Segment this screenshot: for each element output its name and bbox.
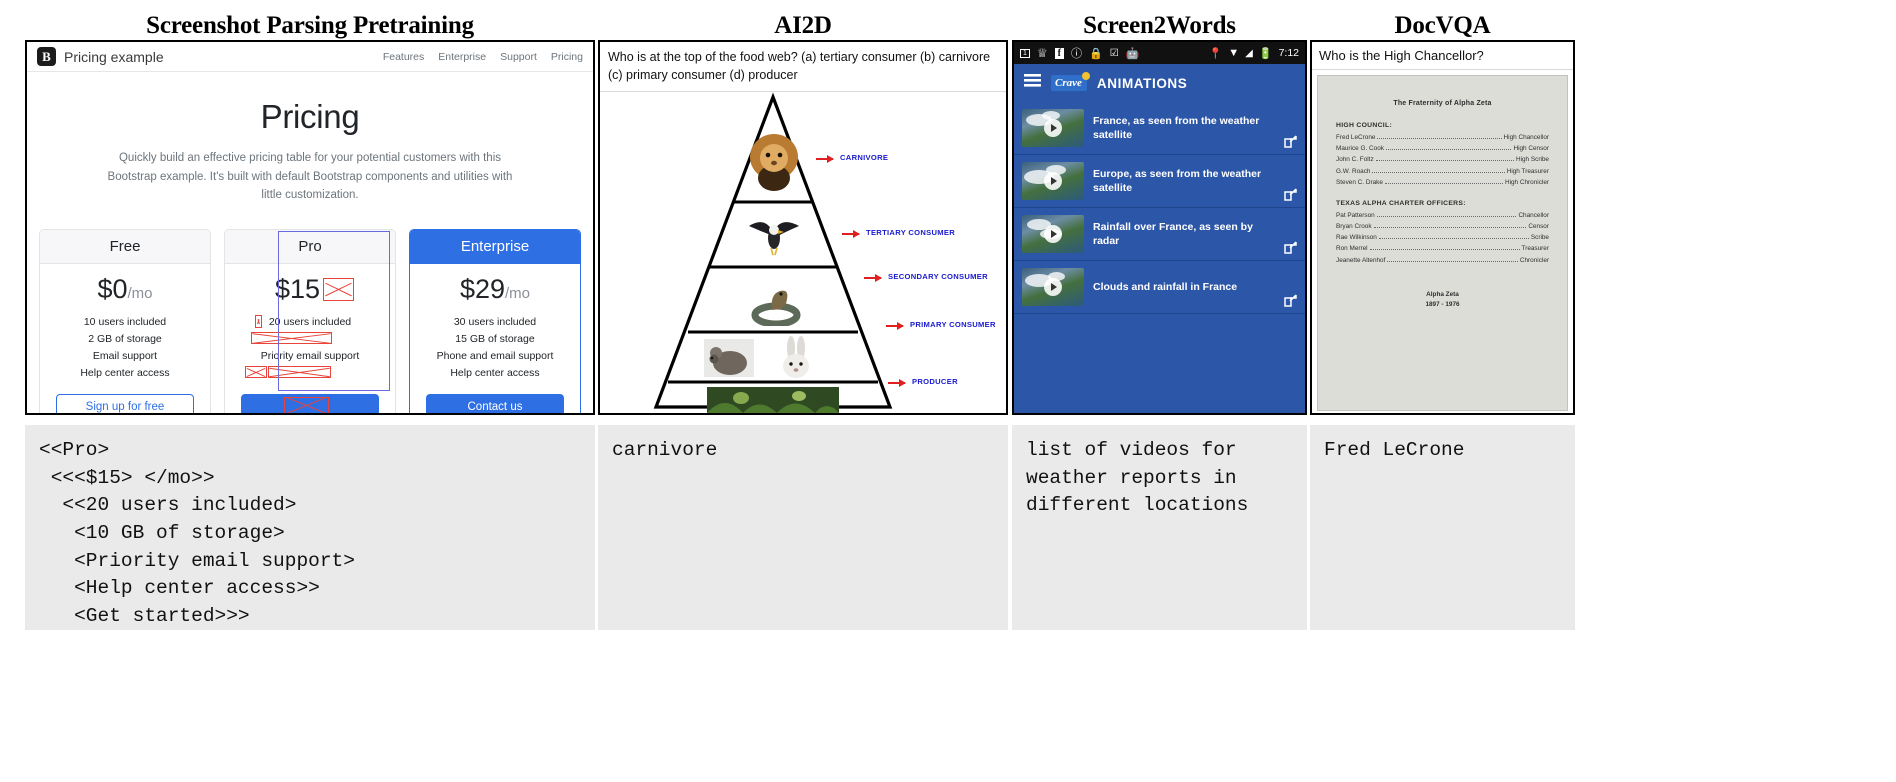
label-primary-consumer: PRIMARY CONSUMER (910, 320, 996, 329)
column-title-screenshot-parsing: Screenshot Parsing Pretraining (25, 12, 595, 40)
leader-dots (1379, 238, 1529, 239)
roster-entry: Maurice G. Cook High Censor (1336, 145, 1549, 152)
lock-icon: 🔒 (1089, 47, 1103, 60)
share-icon[interactable] (1284, 294, 1298, 307)
entry-role: Treasurer (1522, 245, 1549, 252)
entry-role: Censor (1528, 223, 1549, 230)
label-secondary-consumer: SECONDARY CONSUMER (888, 272, 988, 281)
docvqa-question: Who is the High Chancellor? (1312, 42, 1573, 70)
figure-root: Screenshot Parsing Pretraining AI2D Scre… (0, 0, 1896, 782)
app-bar-title: ANIMATIONS (1097, 76, 1188, 91)
entry-name: Fred LeCrone (1336, 134, 1375, 141)
docvqa-panel: Who is the High Chancellor? The Fraterni… (1310, 40, 1575, 415)
column-title-screen2words: Screen2Words (1012, 12, 1307, 40)
arrow-producer (888, 382, 905, 384)
pricing-navbar: B Pricing example Features Enterprise Su… (27, 42, 593, 72)
nav-link-pricing[interactable]: Pricing (551, 51, 583, 63)
answer-box-ai2d: carnivore (598, 425, 1008, 630)
section-heading-texas-alpha: TEXAS ALPHA CHARTER OFFICERS: (1336, 200, 1549, 207)
share-icon[interactable] (1284, 241, 1298, 254)
label-tertiary-consumer: TERTIARY CONSUMER (866, 228, 955, 237)
pricing-card-pro: Pro $15/mo 20 users included 10 GB of st… (224, 229, 396, 415)
play-icon[interactable] (1044, 172, 1062, 190)
label-producer: PRODUCER (912, 377, 958, 386)
roster-entry: Jeanette Altenhof Chronicler (1336, 257, 1549, 264)
nav-link-features[interactable]: Features (383, 51, 424, 63)
card-body-enterprise: $29/mo 30 users included 15 GB of storag… (410, 264, 580, 415)
card-price-free: $0/mo (97, 276, 152, 303)
wifi-icon: ▼ (1228, 47, 1239, 59)
status-right-icons: 📍 ▼ ◢ 🔋 7:12 (1209, 47, 1299, 60)
facebook-icon: f (1055, 48, 1064, 59)
column-title-docvqa: DocVQA (1310, 12, 1575, 40)
list-item-label: France, as seen from the weather satelli… (1093, 114, 1297, 142)
mask-storage-line-pro (251, 332, 332, 344)
navbar-brand-label: Pricing example (64, 49, 164, 65)
entry-name: Ron Merrel (1336, 245, 1368, 252)
hamburger-menu-icon[interactable] (1024, 74, 1041, 92)
pricing-heading: Pricing (67, 98, 553, 136)
leader-dots (1376, 160, 1514, 161)
share-icon[interactable] (1284, 135, 1298, 148)
entry-role: High Treasurer (1507, 168, 1549, 175)
card-features-pro: 20 users included 10 GB of storage Prior… (233, 314, 387, 382)
section-heading-high-council: HIGH COUNCIL: (1336, 122, 1549, 129)
price-amount-enterprise: $29 (460, 274, 505, 304)
leader-dots (1385, 183, 1503, 184)
answer-box-screenshot-parsing: <<Pro> <<<$15> </mo>> <<20 users include… (25, 425, 595, 630)
feature-item: Priority email support (233, 348, 387, 365)
screen2words-panel: 1 ♕ f ⓘ 🔒 ☑ 🤖 📍 ▼ ◢ 🔋 7:12 (1012, 40, 1307, 415)
price-amount-free: $0 (97, 274, 127, 304)
get-started-button-pro[interactable]: Get started (241, 394, 379, 415)
card-body-pro: $15/mo 20 users included 10 GB of storag… (225, 264, 395, 415)
leader-dots (1370, 249, 1520, 250)
eagle-image (745, 210, 803, 263)
rabbit-image (775, 335, 817, 384)
feature-item: Help center access (418, 365, 572, 382)
roster-entry: Rae Wilkinson Scribe (1336, 234, 1549, 241)
entry-role: Chancellor (1518, 212, 1549, 219)
scanned-document: The Fraternity of Alpha Zeta HIGH COUNCI… (1317, 75, 1568, 411)
pricing-card-enterprise: Enterprise $29/mo 30 users included 15 G… (409, 229, 581, 415)
card-title-free: Free (40, 230, 210, 264)
sim-card-icon: 1 (1020, 49, 1030, 58)
price-amount-pro: $15 (275, 274, 320, 304)
video-thumbnail (1022, 109, 1084, 147)
card-features-free: 10 users included 2 GB of storage Email … (48, 314, 202, 382)
card-features-enterprise: 30 users included 15 GB of storage Phone… (418, 314, 572, 382)
play-icon[interactable] (1044, 119, 1062, 137)
arrow-carnivore (816, 158, 833, 160)
ai2d-panel: Who is at the top of the food web? (a) t… (598, 40, 1008, 415)
check-box-icon: ☑ (1110, 48, 1119, 59)
entry-name: Jeanette Altenhof (1336, 257, 1385, 264)
video-thumbnail (1022, 268, 1084, 306)
list-item[interactable]: France, as seen from the weather satelli… (1014, 102, 1305, 155)
plants-image (707, 387, 839, 416)
price-period-enterprise: /mo (505, 285, 530, 302)
feature-item: Phone and email support (418, 348, 572, 365)
leader-dots (1387, 261, 1517, 262)
arrow-secondary-consumer (864, 277, 881, 279)
footer-org: Alpha Zeta (1336, 290, 1549, 300)
play-icon[interactable] (1044, 278, 1062, 296)
android-status-bar: 1 ♕ f ⓘ 🔒 ☑ 🤖 📍 ▼ ◢ 🔋 7:12 (1014, 42, 1305, 64)
card-title-enterprise: Enterprise (410, 230, 580, 264)
android-icon: 🤖 (1126, 47, 1140, 60)
card-price-enterprise: $29/mo (460, 276, 530, 303)
info-icon: ⓘ (1071, 45, 1082, 61)
mask-price-period-pro (323, 278, 354, 301)
video-thumbnail (1022, 162, 1084, 200)
contact-us-button[interactable]: Contact us (426, 394, 564, 415)
mask-helpcenter-b-pro (268, 366, 331, 378)
roster-entry: G.W. Roach High Treasurer (1336, 168, 1549, 175)
arrow-tertiary-consumer (842, 233, 859, 235)
mask-users-digit-pro (255, 315, 262, 328)
pricing-subtext: Quickly build an effective pricing table… (100, 149, 520, 205)
entry-role: High Chronicler (1505, 179, 1549, 186)
list-item[interactable]: Europe, as seen from the weather satelli… (1014, 155, 1305, 208)
play-icon[interactable] (1044, 225, 1062, 243)
feature-item: 10 users included (48, 314, 202, 331)
entry-role: Chronicler (1520, 257, 1549, 264)
document-footer: Alpha Zeta 1897 - 1976 (1336, 290, 1549, 311)
list-item-label: Clouds and rainfall in France (1093, 280, 1297, 294)
pricing-screenshot-panel: B Pricing example Features Enterprise Su… (25, 40, 595, 415)
logo-sun-dot-icon (1082, 72, 1090, 80)
rat-image (704, 339, 754, 382)
card-price-pro: $15/mo (275, 276, 345, 303)
pricing-hero: Pricing Quickly build an effective prici… (27, 72, 593, 219)
video-thumbnail (1022, 215, 1084, 253)
crave-weather-logo: Crave (1051, 75, 1087, 91)
feature-item: 15 GB of storage (418, 331, 572, 348)
entry-name: John C. Foltz (1336, 156, 1374, 163)
feature-item: Help center access (48, 365, 202, 382)
navbar-brand[interactable]: B Pricing example (37, 47, 164, 66)
leader-dots (1377, 216, 1517, 217)
mask-helpcenter-a-pro (245, 366, 267, 378)
entry-name: Bryan Crook (1336, 223, 1372, 230)
document-title: The Fraternity of Alpha Zeta (1336, 100, 1549, 107)
leader-dots (1374, 227, 1527, 228)
list-item[interactable]: Rainfall over France, as seen by radar (1014, 208, 1305, 261)
mask-cta-pro (284, 397, 329, 414)
column-title-ai2d: AI2D (598, 12, 1008, 40)
leader-dots (1386, 149, 1512, 150)
ai2d-diagram: CARNIVORE TERTIARY CONSUMER (600, 92, 1006, 412)
label-carnivore: CARNIVORE (840, 153, 888, 162)
price-period-free: /mo (128, 285, 153, 302)
entry-name: Steven C. Drake (1336, 179, 1383, 186)
navbar-links: Features Enterprise Support Pricing (383, 51, 583, 63)
entry-role: Scribe (1531, 234, 1549, 241)
roster-entry: John C. Foltz High Scribe (1336, 156, 1549, 163)
entry-role: High Censor (1513, 145, 1549, 152)
card-title-pro: Pro (225, 230, 395, 264)
roster-entry: Steven C. Drake High Chronicler (1336, 179, 1549, 186)
entry-role: High Scribe (1516, 156, 1549, 163)
feature-item: Email support (48, 348, 202, 365)
arrow-primary-consumer (886, 325, 903, 327)
entry-role: High Chancellor (1504, 134, 1549, 141)
entry-name: Pat Patterson (1336, 212, 1375, 219)
roster-entry: Ron Merrel Treasurer (1336, 245, 1549, 252)
nav-link-enterprise[interactable]: Enterprise (438, 51, 486, 63)
bootstrap-logo-icon: B (37, 47, 56, 66)
app-bar: Crave ANIMATIONS (1014, 64, 1305, 102)
roster-entry: Fred LeCrone High Chancellor (1336, 134, 1549, 141)
logo-text: Crave (1055, 77, 1082, 89)
answer-box-screen2words: list of videos for weather reports in di… (1012, 425, 1307, 630)
entry-name: G.W. Roach (1336, 168, 1370, 175)
ai2d-question: Who is at the top of the food web? (a) t… (600, 42, 1006, 92)
crown-icon: ♕ (1037, 46, 1048, 60)
feature-item: 30 users included (418, 314, 572, 331)
card-body-free: $0/mo 10 users included 2 GB of storage … (40, 264, 210, 415)
document-page: The Fraternity of Alpha Zeta HIGH COUNCI… (1318, 76, 1567, 316)
status-bar-clock: 7:12 (1279, 47, 1299, 59)
pricing-card-free: Free $0/mo 10 users included 2 GB of sto… (39, 229, 211, 415)
answer-box-docvqa: Fred LeCrone (1310, 425, 1575, 630)
entry-name: Maurice G. Cook (1336, 145, 1384, 152)
feature-item: 2 GB of storage (48, 331, 202, 348)
leader-dots (1372, 172, 1504, 173)
nav-link-support[interactable]: Support (500, 51, 537, 63)
signal-icon: ◢ (1245, 48, 1253, 59)
share-icon[interactable] (1284, 188, 1298, 201)
location-icon: 📍 (1209, 47, 1223, 60)
pricing-cards: Free $0/mo 10 users included 2 GB of sto… (27, 219, 593, 415)
lion-image (745, 130, 803, 197)
list-item-label: Rainfall over France, as seen by radar (1093, 220, 1297, 248)
roster-entry: Bryan Crook Censor (1336, 223, 1549, 230)
footer-years: 1897 - 1976 (1336, 300, 1549, 310)
roster-entry: Pat Patterson Chancellor (1336, 212, 1549, 219)
list-item-label: Europe, as seen from the weather satelli… (1093, 167, 1297, 195)
leader-dots (1377, 138, 1501, 139)
entry-name: Rae Wilkinson (1336, 234, 1377, 241)
signup-free-button[interactable]: Sign up for free (56, 394, 194, 415)
list-item[interactable]: Clouds and rainfall in France (1014, 261, 1305, 314)
animations-list: France, as seen from the weather satelli… (1014, 102, 1305, 413)
snake-image (750, 280, 802, 331)
battery-icon: 🔋 (1259, 47, 1273, 60)
